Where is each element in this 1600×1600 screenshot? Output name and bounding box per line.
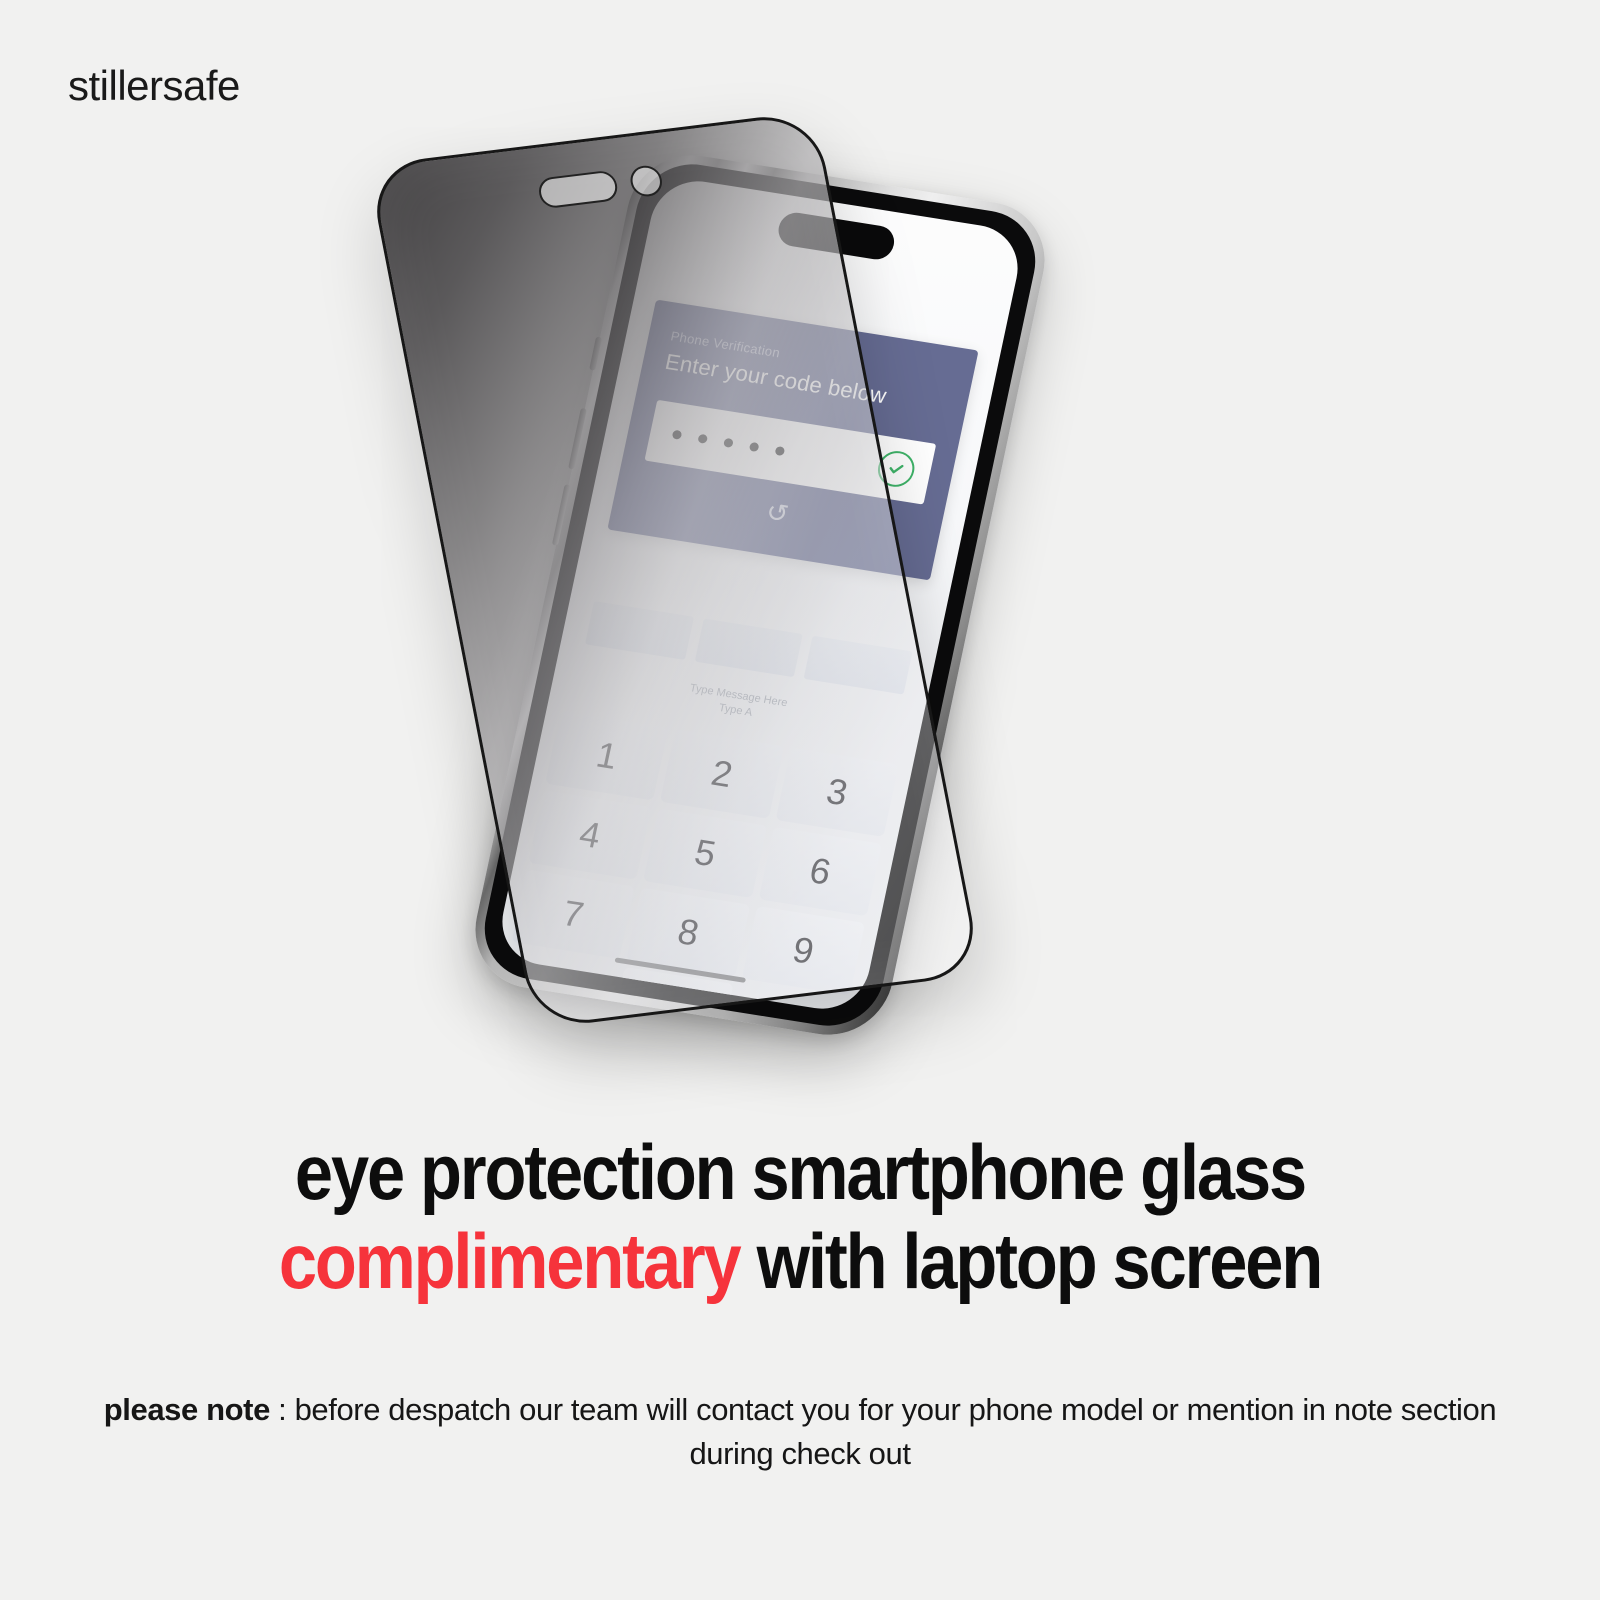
brand-logo: stillersafe	[68, 62, 240, 110]
product-stage: Phone Verification Enter your code below	[400, 130, 1160, 1070]
front-camera-cutout-icon	[628, 164, 665, 198]
note-separator: :	[270, 1392, 295, 1427]
headline-highlight: complimentary	[279, 1217, 740, 1305]
note-label: please note	[104, 1392, 270, 1427]
headline-line-2-rest: with laptop screen	[740, 1217, 1322, 1305]
note-body: before despatch our team will contact yo…	[295, 1392, 1497, 1471]
hero-product-image: Phone Verification Enter your code below	[0, 120, 1600, 1100]
headline: eye protection smartphone glass complime…	[96, 1128, 1504, 1306]
headline-line-1: eye protection smartphone glass	[96, 1128, 1504, 1217]
headline-line-2: complimentary with laptop screen	[96, 1217, 1504, 1306]
please-note: please note : before despatch our team w…	[85, 1388, 1515, 1476]
